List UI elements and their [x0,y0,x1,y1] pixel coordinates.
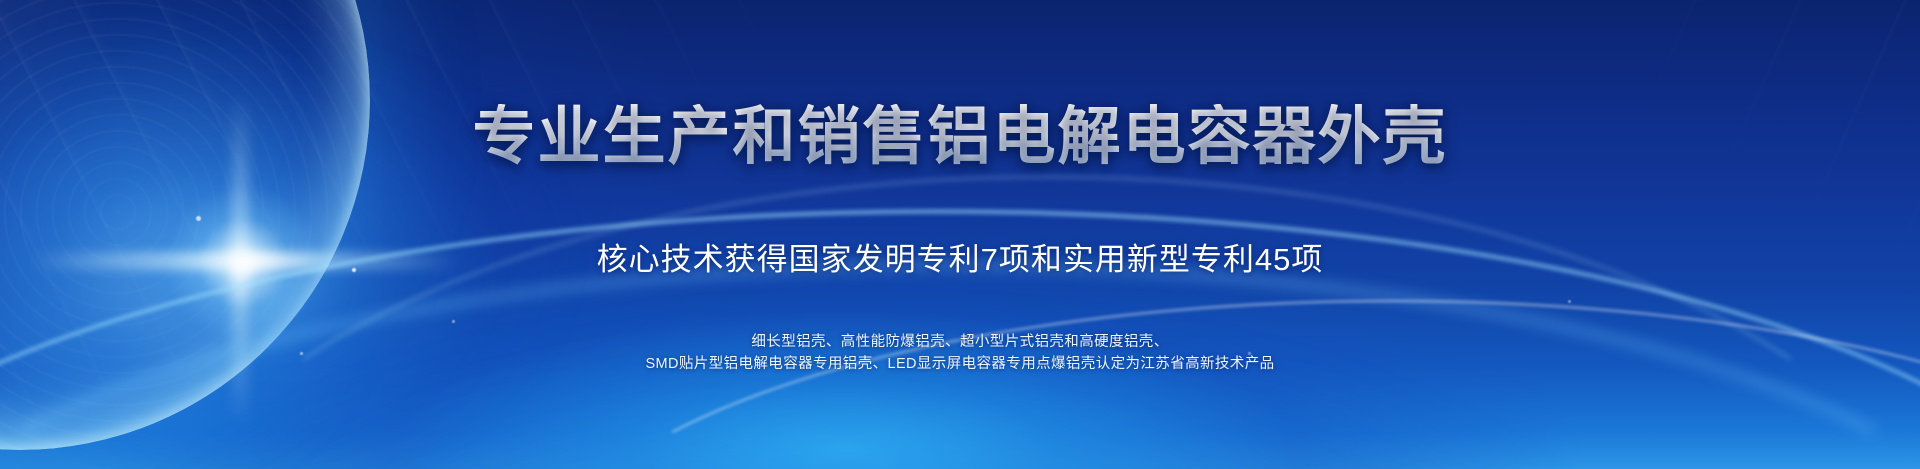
page-title: 专业生产和销售铝电解电容器外壳 [473,104,1448,170]
detail-text-block: 细长型铝壳、高性能防爆铝壳、超小型片式铝壳和高硬度铝壳、 SMD贴片型铝电解电容… [645,331,1274,375]
page-subtitle: 核心技术获得国家发明专利7项和实用新型专利45项 [597,234,1324,279]
detail-line-1: 细长型铝壳、高性能防爆铝壳、超小型片式铝壳和高硬度铝壳、 [645,331,1274,353]
detail-line-2: SMD贴片型铝电解电容器专用铝壳、LED显示屏电容器专用点爆铝壳认定为江苏省高新… [645,353,1274,375]
banner-content: 专业生产和销售铝电解电容器外壳 核心技术获得国家发明专利7项和实用新型专利45项… [0,0,1920,469]
hero-banner: 专业生产和销售铝电解电容器外壳 核心技术获得国家发明专利7项和实用新型专利45项… [0,0,1920,469]
